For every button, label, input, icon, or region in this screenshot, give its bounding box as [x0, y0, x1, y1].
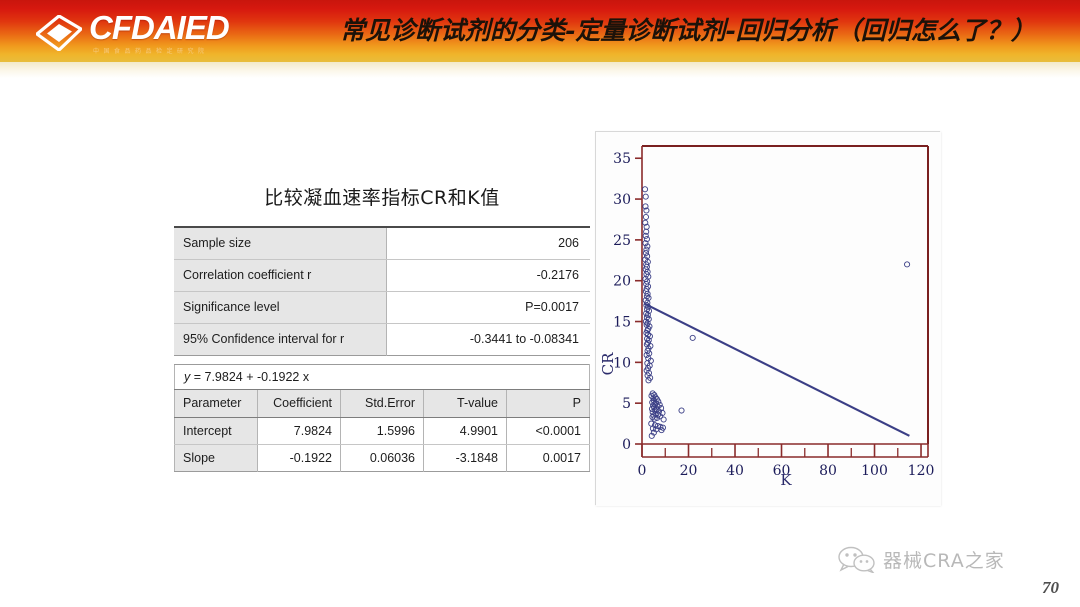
table-row: Sample size 206	[174, 227, 590, 259]
brand-name: CFDAIED	[89, 11, 229, 45]
equation-row: y = 7.9824 + -0.1922 x	[175, 364, 590, 389]
x-tick-label: 0	[638, 463, 647, 479]
cell-p-value: 0.0017	[507, 444, 590, 471]
statistics-panel: 比较凝血速率指标CR和K值 Sample size 206 Correlatio…	[174, 183, 590, 472]
brand-subtitle: 中国食品药品检定研究院	[93, 46, 229, 55]
column-header-t-value: T-value	[424, 389, 507, 417]
table-row: Significance level P=0.0017	[174, 291, 590, 323]
regression-table: y = 7.9824 + -0.1922 x Parameter Coeffic…	[174, 364, 590, 472]
cell-parameter: Slope	[175, 444, 258, 471]
cell-t-value: 4.9901	[424, 417, 507, 444]
header-banner: CFDAIED 中国食品药品检定研究院 常见诊断试剂的分类-定量诊断试剂-回归分…	[0, 0, 1080, 62]
watermark-label: 器械CRA之家	[883, 546, 1005, 573]
correlation-table: Sample size 206 Correlation coefficient …	[174, 226, 590, 356]
table-header-row: Parameter Coefficient Std.Error T-value …	[175, 389, 590, 417]
column-header-std-error: Std.Error	[341, 389, 424, 417]
scatter-plot-figure: 05101520253035020406080100120 CR K	[595, 131, 940, 505]
y-tick-label: 15	[613, 315, 631, 331]
x-tick-label: 20	[680, 463, 698, 479]
y-tick-label: 30	[613, 192, 631, 208]
section-heading: 比较凝血速率指标CR和K值	[174, 183, 590, 210]
y-tick-label: 0	[622, 437, 631, 453]
x-axis-label: K	[780, 471, 792, 489]
scatter-plot-svg: 05101520253035020406080100120 CR K	[596, 132, 941, 506]
column-header-parameter: Parameter	[175, 389, 258, 417]
y-tick-label: 5	[622, 396, 631, 412]
cell-parameter: Intercept	[175, 417, 258, 444]
slide-canvas: CFDAIED 中国食品药品检定研究院 常见诊断试剂的分类-定量诊断试剂-回归分…	[0, 0, 1080, 607]
watermark: 器械CRA之家	[838, 546, 1005, 573]
table-row: Correlation coefficient r -0.2176	[174, 259, 590, 291]
cell-p-value: <0.0001	[507, 417, 590, 444]
x-tick-label: 80	[819, 463, 837, 479]
page-number: 70	[1042, 578, 1059, 598]
row-value: -0.2176	[386, 259, 590, 291]
row-value: P=0.0017	[386, 291, 590, 323]
table-row: Intercept 7.9824 1.5996 4.9901 <0.0001	[175, 417, 590, 444]
row-label: Correlation coefficient r	[174, 259, 386, 291]
row-value: 206	[386, 227, 590, 259]
x-tick-label: 40	[726, 463, 744, 479]
row-label: Sample size	[174, 227, 386, 259]
wechat-icon	[838, 546, 876, 573]
table-spacer	[174, 356, 590, 364]
table-row: 95% Confidence interval for r -0.3441 to…	[174, 323, 590, 355]
cell-t-value: -3.1848	[424, 444, 507, 471]
regression-equation: y = 7.9824 + -0.1922 x	[175, 364, 590, 389]
equation-expression: = 7.9824 + -0.1922 x	[194, 370, 309, 384]
y-axis-label: CR	[599, 352, 617, 375]
cell-std-error: 0.06036	[341, 444, 424, 471]
column-header-p: P	[507, 389, 590, 417]
brand-text-block: CFDAIED 中国食品药品检定研究院	[89, 11, 229, 55]
y-tick-label: 20	[613, 274, 631, 290]
x-tick-label: 120	[908, 463, 935, 479]
column-header-coefficient: Coefficient	[258, 389, 341, 417]
header-fade-divider	[0, 62, 1080, 78]
equation-y-symbol: y	[184, 370, 190, 384]
x-tick-label: 100	[861, 463, 888, 479]
table-row: Slope -0.1922 0.06036 -3.1848 0.0017	[175, 444, 590, 471]
cell-coefficient: 7.9824	[258, 417, 341, 444]
row-label: 95% Confidence interval for r	[174, 323, 386, 355]
row-value: -0.3441 to -0.08341	[386, 323, 590, 355]
page-title: 常见诊断试剂的分类-定量诊断试剂-回归分析（回归怎么了？）	[340, 11, 1080, 51]
y-tick-label: 35	[613, 151, 631, 167]
cell-std-error: 1.5996	[341, 417, 424, 444]
diamond-logo-icon	[36, 15, 82, 51]
brand-logo: CFDAIED 中国食品药品检定研究院	[36, 11, 229, 55]
y-tick-label: 25	[613, 233, 631, 249]
row-label: Significance level	[174, 291, 386, 323]
cell-coefficient: -0.1922	[258, 444, 341, 471]
